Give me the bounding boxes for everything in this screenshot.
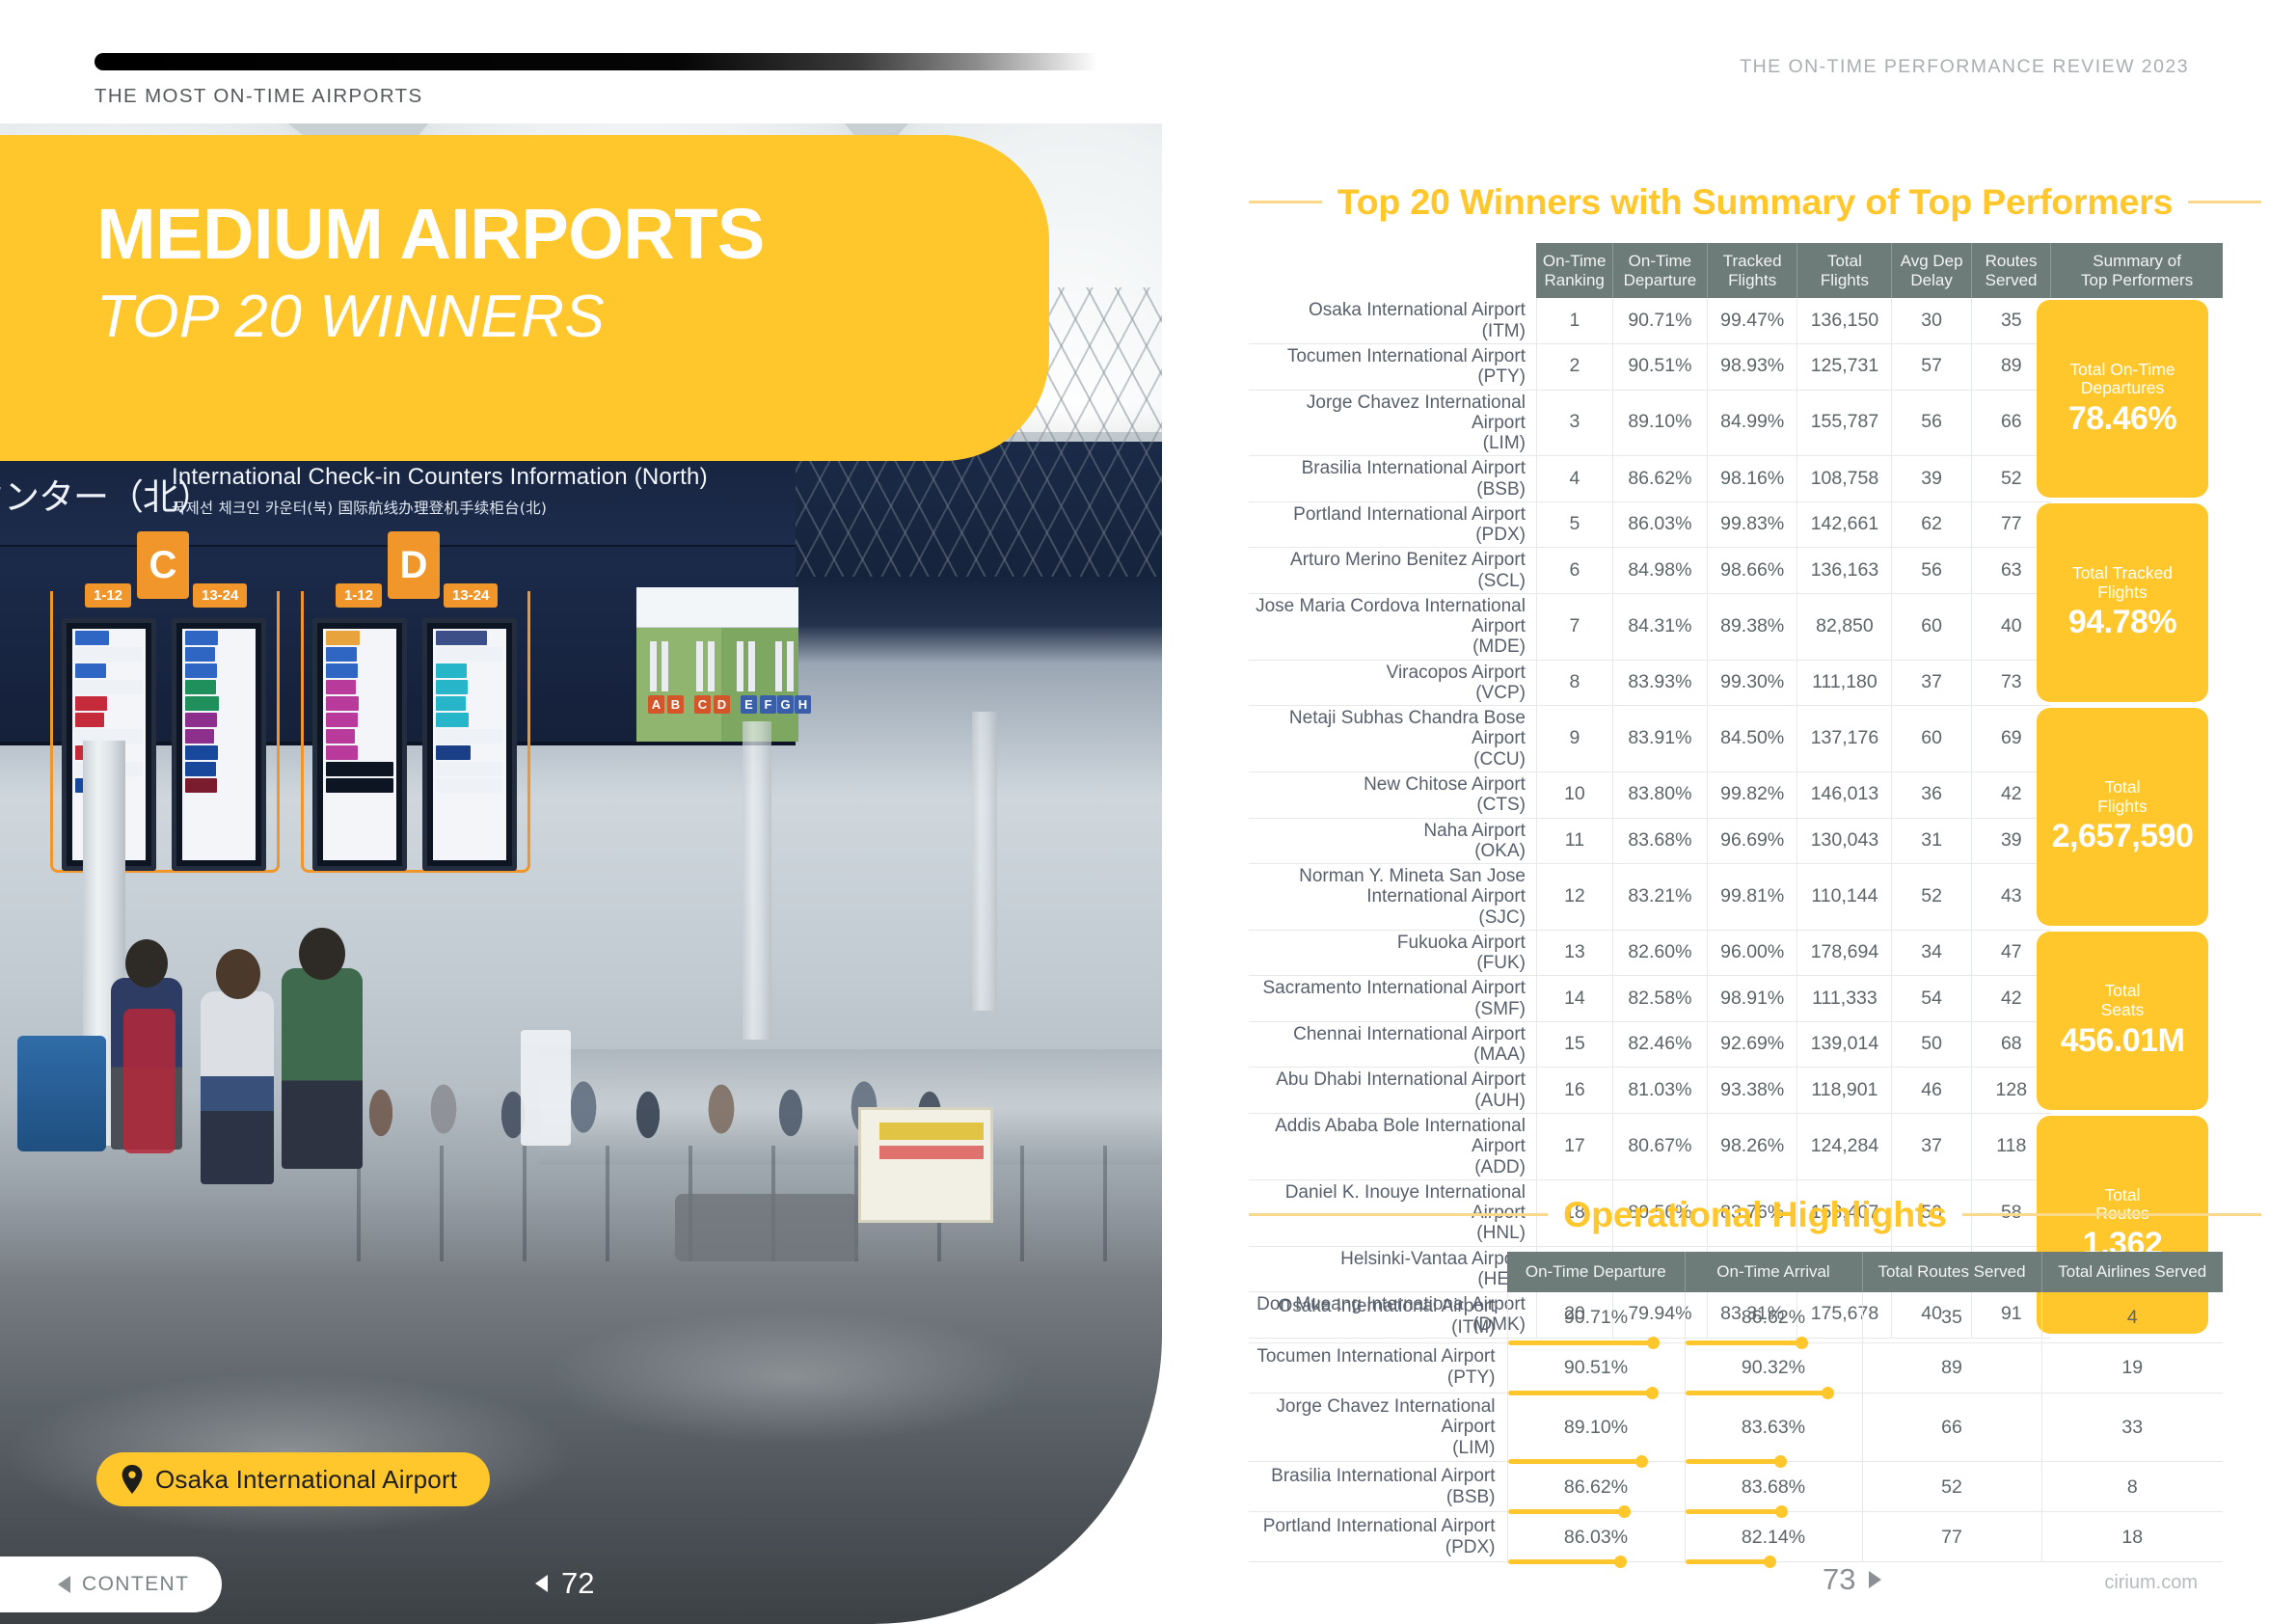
ops-row-arrival: 83.68% (1685, 1462, 1862, 1512)
row-total-flights: 137,176 (1797, 706, 1892, 772)
operational-section-title: Operational Highlights (1548, 1194, 1962, 1235)
counter-label-h: H (795, 695, 811, 714)
row-tracked-flights: 84.50% (1707, 706, 1797, 772)
row-airport-name: Sacramento International Airport(SMF) (1249, 976, 1536, 1022)
chevron-left-icon (58, 1576, 70, 1593)
ops-row-airlines: 18 (2041, 1512, 2223, 1562)
row-tracked-flights: 84.99% (1707, 390, 1797, 456)
row-rank: 6 (1536, 548, 1612, 594)
col-tracked-flights: TrackedFlights (1707, 243, 1797, 298)
row-avg-dep-delay: 36 (1892, 772, 1971, 819)
row-on-time-departure: 80.67% (1612, 1114, 1707, 1180)
row-total-flights: 110,144 (1797, 864, 1892, 931)
ops-rule-right (1962, 1213, 2261, 1216)
row-total-flights: 125,731 (1797, 343, 1892, 390)
ops-col-arrival: On-Time Arrival (1685, 1252, 1862, 1292)
content-nav-label: CONTENT (82, 1573, 189, 1596)
row-avg-dep-delay: 54 (1892, 976, 1971, 1022)
notice-stripe (879, 1123, 984, 1140)
row-rank: 9 (1536, 706, 1612, 772)
col-total-flights: TotalFlights (1797, 243, 1892, 298)
ops-row-airlines: 8 (2041, 1462, 2223, 1512)
row-total-flights: 118,901 (1797, 1068, 1892, 1114)
zone-d-letter: D (388, 531, 440, 599)
row-total-flights: 124,284 (1797, 1114, 1892, 1180)
operational-section-header: Operational Highlights (1249, 1194, 2261, 1235)
ops-row-airlines: 19 (2041, 1342, 2223, 1393)
row-total-flights: 139,014 (1797, 1021, 1892, 1068)
row-on-time-departure: 86.62% (1612, 456, 1707, 502)
row-avg-dep-delay: 34 (1892, 930, 1971, 976)
summary-card-value: 78.46% (2068, 400, 2176, 438)
row-rank: 1 (1536, 298, 1612, 343)
summary-card-caption: Total On-TimeDepartures (2069, 361, 2174, 398)
row-on-time-departure: 83.91% (1612, 706, 1707, 772)
row-airport-name: New Chitose Airport(CTS) (1249, 772, 1536, 819)
row-airport-name: Abu Dhabi International Airport(AUH) (1249, 1068, 1536, 1114)
row-tracked-flights: 98.91% (1707, 976, 1797, 1022)
row-on-time-departure: 86.03% (1612, 501, 1707, 548)
row-avg-dep-delay: 60 (1892, 593, 1971, 660)
row-airport-name: Naha Airport(OKA) (1249, 818, 1536, 864)
page-number-right-group[interactable]: 73 (1823, 1562, 1881, 1597)
summary-card: Total On-TimeDepartures78.46% (2037, 300, 2208, 498)
row-on-time-departure: 89.10% (1612, 390, 1707, 456)
ops-col-airlines: Total Airlines Served (2041, 1252, 2223, 1292)
row-avg-dep-delay: 56 (1892, 548, 1971, 594)
row-tracked-flights: 98.93% (1707, 343, 1797, 390)
sign-english-text: International Check-in Counters Informat… (172, 464, 708, 491)
traveler-3 (282, 968, 363, 1169)
summary-card-caption: Total TrackedFlights (2072, 564, 2173, 602)
row-airport-name: Norman Y. Mineta San Jose International … (1249, 864, 1536, 931)
winners-header-row: On-TimeRanking On-TimeDeparture TrackedF… (1249, 243, 2223, 298)
row-airport-name: Fukuoka Airport(FUK) (1249, 930, 1536, 976)
row-tracked-flights: 99.82% (1707, 772, 1797, 819)
row-rank: 2 (1536, 343, 1612, 390)
ops-row-departure: 86.03% (1507, 1512, 1685, 1562)
ops-row-airport-name: Tocumen International Airport(PTY) (1249, 1342, 1507, 1393)
operational-highlights-table: On-Time Departure On-Time Arrival Total … (1249, 1252, 2223, 1562)
ops-row-airport-name: Brasilia International Airport(BSB) (1249, 1462, 1507, 1512)
page-number-right: 73 (1823, 1562, 1855, 1597)
row-avg-dep-delay: 57 (1892, 343, 1971, 390)
row-tracked-flights: 99.30% (1707, 660, 1797, 706)
airport-pill-label: Osaka International Airport (155, 1465, 457, 1495)
ops-row-departure: 89.10% (1507, 1393, 1685, 1462)
traveler-4 (123, 1009, 176, 1153)
row-tracked-flights: 96.00% (1707, 930, 1797, 976)
ops-row-departure: 90.71% (1507, 1292, 1685, 1342)
row-airport-name: Brasilia International Airport(BSB) (1249, 456, 1536, 502)
row-on-time-departure: 82.46% (1612, 1021, 1707, 1068)
row-total-flights: 108,758 (1797, 456, 1892, 502)
summary-card-caption: TotalFlights (2097, 778, 2147, 816)
summary-card-caption: TotalSeats (2101, 982, 2145, 1019)
row-rank: 5 (1536, 501, 1612, 548)
report-page: ウンター（北） International Check-in Counters … (0, 0, 2296, 1624)
page-number-left-group[interactable]: 72 (535, 1566, 594, 1601)
row-airport-name: Addis Ababa Bole International Airport(A… (1249, 1114, 1536, 1180)
ops-row-routes: 89 (1862, 1342, 2041, 1393)
col-ranking: On-TimeRanking (1536, 243, 1612, 298)
winners-section-header: Top 20 Winners with Summary of Top Perfo… (1249, 181, 2261, 223)
ops-row-arrival: 90.32% (1685, 1342, 1862, 1393)
row-avg-dep-delay: 50 (1892, 1021, 1971, 1068)
ops-col-departure: On-Time Departure (1507, 1252, 1685, 1292)
row-avg-dep-delay: 52 (1892, 864, 1971, 931)
progress-bar (1508, 1559, 1621, 1564)
row-on-time-departure: 83.68% (1612, 818, 1707, 864)
col-summary: Summary ofTop Performers (2051, 243, 2223, 298)
row-avg-dep-delay: 30 (1892, 298, 1971, 343)
row-tracked-flights: 92.69% (1707, 1021, 1797, 1068)
zone-c-range-high: 13-24 (193, 583, 247, 608)
page-kicker: THE MOST ON-TIME AIRPORTS (95, 85, 423, 108)
row-total-flights: 130,043 (1797, 818, 1892, 864)
row-airport-name: Viracopos Airport(VCP) (1249, 660, 1536, 706)
info-poster (521, 1030, 571, 1146)
ops-row-arrival: 86.62% (1685, 1292, 1862, 1342)
location-pin-icon (122, 1465, 143, 1494)
row-airport-name: Jorge Chavez International Airport(LIM) (1249, 390, 1536, 456)
row-tracked-flights: 96.69% (1707, 818, 1797, 864)
row-on-time-departure: 83.21% (1612, 864, 1707, 931)
summary-card-value: 456.01M (2061, 1022, 2185, 1060)
col-on-time-departure: On-TimeDeparture (1612, 243, 1707, 298)
site-url: cirium.com (2104, 1572, 2198, 1594)
row-total-flights: 136,150 (1797, 298, 1892, 343)
ana-counter-sign (17, 1036, 106, 1151)
row-avg-dep-delay: 62 (1892, 501, 1971, 548)
row-on-time-departure: 90.71% (1612, 298, 1707, 343)
row-total-flights: 142,661 (1797, 501, 1892, 548)
col-avg-dep-delay: Avg DepDelay (1892, 243, 1971, 298)
row-avg-dep-delay: 60 (1892, 706, 1971, 772)
checkin-signboard: ウンター（北） International Check-in Counters … (0, 447, 796, 745)
progress-bar (1686, 1559, 1771, 1564)
row-rank: 4 (1536, 456, 1612, 502)
counter-label-b: B (667, 695, 684, 714)
row-tracked-flights: 93.38% (1707, 1068, 1797, 1114)
row-rank: 12 (1536, 864, 1612, 931)
header-gradient-bar (95, 53, 1097, 70)
row-avg-dep-delay: 37 (1892, 1114, 1971, 1180)
airport-location-pill[interactable]: Osaka International Airport (96, 1452, 490, 1506)
ops-row-airlines: 33 (2041, 1393, 2223, 1462)
summary-card: Total TrackedFlights94.78% (2037, 503, 2208, 701)
table-row: Osaka International Airport(ITM)90.71%86… (1249, 1292, 2223, 1342)
luggage-cart (675, 1194, 858, 1261)
row-avg-dep-delay: 56 (1892, 390, 1971, 456)
row-total-flights: 178,694 (1797, 930, 1892, 976)
ops-row-routes: 35 (1862, 1292, 2041, 1342)
row-rank: 17 (1536, 1114, 1612, 1180)
ops-row-departure: 86.62% (1507, 1462, 1685, 1512)
col-routes-served: RoutesServed (1971, 243, 2050, 298)
table-row: Brasilia International Airport(BSB)86.62… (1249, 1462, 2223, 1512)
row-rank: 15 (1536, 1021, 1612, 1068)
prev-page-icon (535, 1575, 548, 1592)
row-rank: 14 (1536, 976, 1612, 1022)
row-on-time-departure: 90.51% (1612, 343, 1707, 390)
ops-rule-left (1249, 1213, 1548, 1216)
zone-d-range-high: 13-24 (444, 583, 498, 608)
zone-c-range-low: 1-12 (85, 583, 131, 608)
row-total-flights: 111,333 (1797, 976, 1892, 1022)
ops-row-arrival: 82.14% (1685, 1512, 1862, 1562)
row-total-flights: 146,013 (1797, 772, 1892, 819)
zone-d-range-low: 1-12 (336, 583, 382, 608)
rule-right (2188, 201, 2261, 203)
row-on-time-departure: 82.58% (1612, 976, 1707, 1022)
ops-header-row: On-Time Departure On-Time Arrival Total … (1249, 1252, 2223, 1292)
row-on-time-departure: 84.31% (1612, 593, 1707, 660)
summary-card: TotalFlights2,657,590 (2037, 708, 2208, 927)
review-title: THE ON-TIME PERFORMANCE REVIEW 2023 (1740, 56, 2189, 78)
counter-label-c: C (694, 695, 711, 714)
row-total-flights: 111,180 (1797, 660, 1892, 706)
row-tracked-flights: 99.81% (1707, 864, 1797, 931)
table-row: Tocumen International Airport(PTY)90.51%… (1249, 1342, 2223, 1393)
page-number-left: 72 (561, 1566, 594, 1601)
row-total-flights: 155,787 (1797, 390, 1892, 456)
row-rank: 8 (1536, 660, 1612, 706)
row-airport-name: Arturo Merino Benitez Airport(SCL) (1249, 548, 1536, 594)
ops-row-arrival: 83.63% (1685, 1393, 1862, 1462)
row-tracked-flights: 99.83% (1707, 501, 1797, 548)
row-airport-name: Portland International Airport(PDX) (1249, 501, 1536, 548)
counter-label-e: E (741, 695, 757, 714)
row-on-time-departure: 83.80% (1612, 772, 1707, 819)
table-row: Jorge Chavez International Airport(LIM)8… (1249, 1393, 2223, 1462)
notice-stripe-2 (879, 1146, 984, 1159)
row-avg-dep-delay: 46 (1892, 1068, 1971, 1114)
ops-col-routes: Total Routes Served (1862, 1252, 2041, 1292)
ops-row-airport-name: Portland International Airport(PDX) (1249, 1512, 1507, 1562)
row-rank: 3 (1536, 390, 1612, 456)
ops-row-airport-name: Osaka International Airport(ITM) (1249, 1292, 1507, 1342)
row-on-time-departure: 84.98% (1612, 548, 1707, 594)
row-tracked-flights: 89.38% (1707, 593, 1797, 660)
hero-title-card: MEDIUM AIRPORTS TOP 20 WINNERS (0, 135, 1049, 461)
sign-multilingual-text: 국제선 체크인 카운터(북) 国际航线办理登机手续柜台(北) (172, 497, 547, 518)
next-page-icon (1869, 1571, 1881, 1588)
row-airport-name: Chennai International Airport(MAA) (1249, 1021, 1536, 1068)
row-tracked-flights: 99.47% (1707, 298, 1797, 343)
left-page: ウンター（北） International Check-in Counters … (0, 0, 1225, 1624)
row-on-time-departure: 83.93% (1612, 660, 1707, 706)
row-total-flights: 82,850 (1797, 593, 1892, 660)
hero-title-sub: TOP 20 WINNERS (96, 287, 605, 347)
row-avg-dep-delay: 31 (1892, 818, 1971, 864)
row-airport-name: Tocumen International Airport(PTY) (1249, 343, 1536, 390)
summary-card-value: 94.78% (2068, 604, 2176, 641)
row-tracked-flights: 98.66% (1707, 548, 1797, 594)
ops-row-airport-name: Jorge Chavez International Airport(LIM) (1249, 1393, 1507, 1462)
row-airport-name: Netaji Subhas Chandra Bose Airport(CCU) (1249, 706, 1536, 772)
counter-label-f: F (760, 695, 776, 714)
row-rank: 13 (1536, 930, 1612, 976)
row-rank: 7 (1536, 593, 1612, 660)
counter-label-d: D (714, 695, 730, 714)
winners-section-title: Top 20 Winners with Summary of Top Perfo… (1322, 181, 2189, 223)
content-nav-button[interactable]: CONTENT (0, 1556, 222, 1612)
traveler-2 (201, 991, 274, 1184)
row-rank: 10 (1536, 772, 1612, 819)
ops-row-routes: 77 (1862, 1512, 2041, 1562)
table-row: Portland International Airport(PDX)86.03… (1249, 1512, 2223, 1562)
ops-row-departure: 90.51% (1507, 1342, 1685, 1393)
zone-c-letter: C (137, 531, 189, 599)
hero-title-main: MEDIUM AIRPORTS (96, 199, 765, 270)
terminal-map-panel: A B C D E F G H (636, 587, 798, 742)
row-on-time-departure: 82.60% (1612, 930, 1707, 976)
ops-row-airlines: 4 (2041, 1292, 2223, 1342)
ops-row-routes: 52 (1862, 1462, 2041, 1512)
row-rank: 16 (1536, 1068, 1612, 1114)
row-on-time-departure: 81.03% (1612, 1068, 1707, 1114)
row-tracked-flights: 98.26% (1707, 1114, 1797, 1180)
row-airport-name: Jose Maria Cordova International Airport… (1249, 593, 1536, 660)
counter-label-g: G (777, 695, 794, 714)
ops-row-routes: 66 (1862, 1393, 2041, 1462)
row-total-flights: 136,163 (1797, 548, 1892, 594)
row-tracked-flights: 98.16% (1707, 456, 1797, 502)
row-avg-dep-delay: 37 (1892, 660, 1971, 706)
summary-card-value: 2,657,590 (2052, 818, 2194, 855)
row-rank: 11 (1536, 818, 1612, 864)
rule-left (1249, 201, 1322, 203)
counter-label-a: A (648, 695, 664, 714)
row-avg-dep-delay: 39 (1892, 456, 1971, 502)
row-airport-name: Osaka International Airport(ITM) (1249, 298, 1536, 343)
summary-card: TotalSeats456.01M (2037, 932, 2208, 1109)
